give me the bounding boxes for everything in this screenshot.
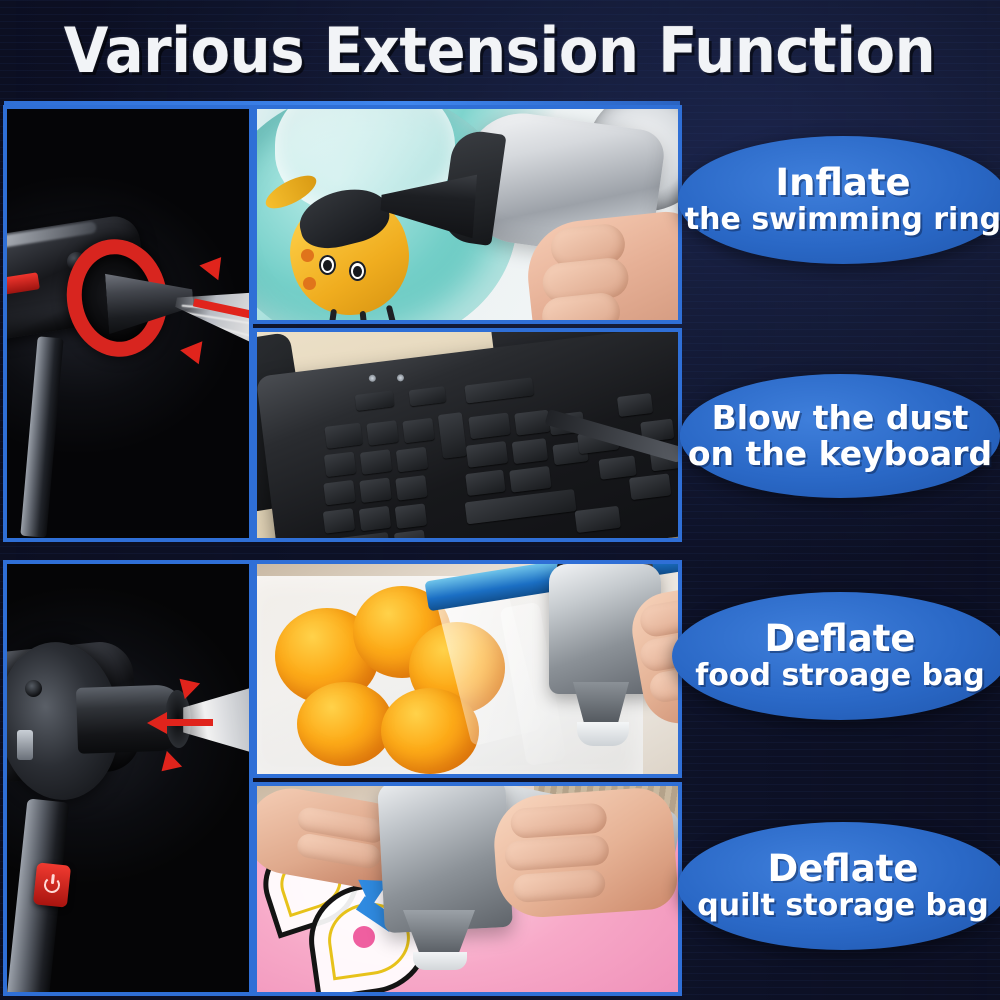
usb-port-icon <box>17 730 33 760</box>
blower-handle <box>20 336 63 538</box>
giraffe-spot-shape <box>301 249 314 262</box>
callout-title: Blow the dust <box>712 401 969 435</box>
callout-inflate-swimming-ring: Inflate the swimming ring <box>678 136 1000 264</box>
callout-subtitle: the swimming ring <box>685 204 1000 236</box>
vacuum-pump-cup <box>577 722 629 746</box>
callout-deflate-quilt-bag: Deflate quilt storage bag <box>678 822 1000 950</box>
floral-dot-shape <box>353 926 375 948</box>
callout-title: Deflate <box>765 620 916 658</box>
giraffe-eye-shape <box>319 255 336 275</box>
panel-air-blower-blowing <box>3 105 253 542</box>
panel-inflating-swimming-ring <box>253 105 682 324</box>
vacuum-pump-cup <box>413 952 467 970</box>
device-port-icon <box>25 680 42 697</box>
giraffe-eye-shape <box>349 261 366 281</box>
orange-fruit-shape <box>297 682 393 766</box>
title-divider <box>4 101 680 105</box>
photo-deflating-quilt-storage-bag <box>257 786 678 992</box>
arrow-left-icon <box>147 712 167 734</box>
callout-subtitle: quilt storage bag <box>697 890 989 922</box>
callout-subtitle: food stroage bag <box>695 660 985 692</box>
panel-deflating-quilt-storage-bag <box>253 782 682 996</box>
giraffe-spot-shape <box>303 277 316 290</box>
infographic-page: Various Extension Function <box>0 0 1000 1000</box>
arrow-down-icon <box>180 341 210 369</box>
callout-subtitle: on the keyboard <box>688 436 992 472</box>
photo-air-blower-sucking <box>7 564 249 992</box>
power-button[interactable] <box>33 862 71 907</box>
callout-title: Deflate <box>768 850 919 888</box>
page-title: Various Extension Function <box>64 14 935 87</box>
arrow-up-icon <box>199 250 230 281</box>
photo-blowing-dust-keyboard <box>257 332 678 538</box>
arrow-left-shaft <box>165 719 213 726</box>
panel-air-blower-sucking <box>3 560 253 996</box>
callout-deflate-food-bag: Deflate food stroage bag <box>672 592 1000 720</box>
arrow-inward-down-icon <box>154 751 182 779</box>
photo-inflating-swimming-ring <box>257 109 678 320</box>
callout-blow-dust-keyboard: Blow the dust on the keyboard <box>680 374 1000 498</box>
callout-title: Inflate <box>775 164 910 202</box>
power-icon <box>43 876 61 894</box>
photo-deflating-food-storage-bag <box>257 564 678 774</box>
panel-blowing-dust-keyboard <box>253 328 682 542</box>
panel-deflating-food-storage-bag <box>253 560 682 778</box>
photo-air-blower-blowing <box>7 109 249 538</box>
title-bar: Various Extension Function <box>0 0 1000 100</box>
hand-right-shape <box>491 786 679 920</box>
